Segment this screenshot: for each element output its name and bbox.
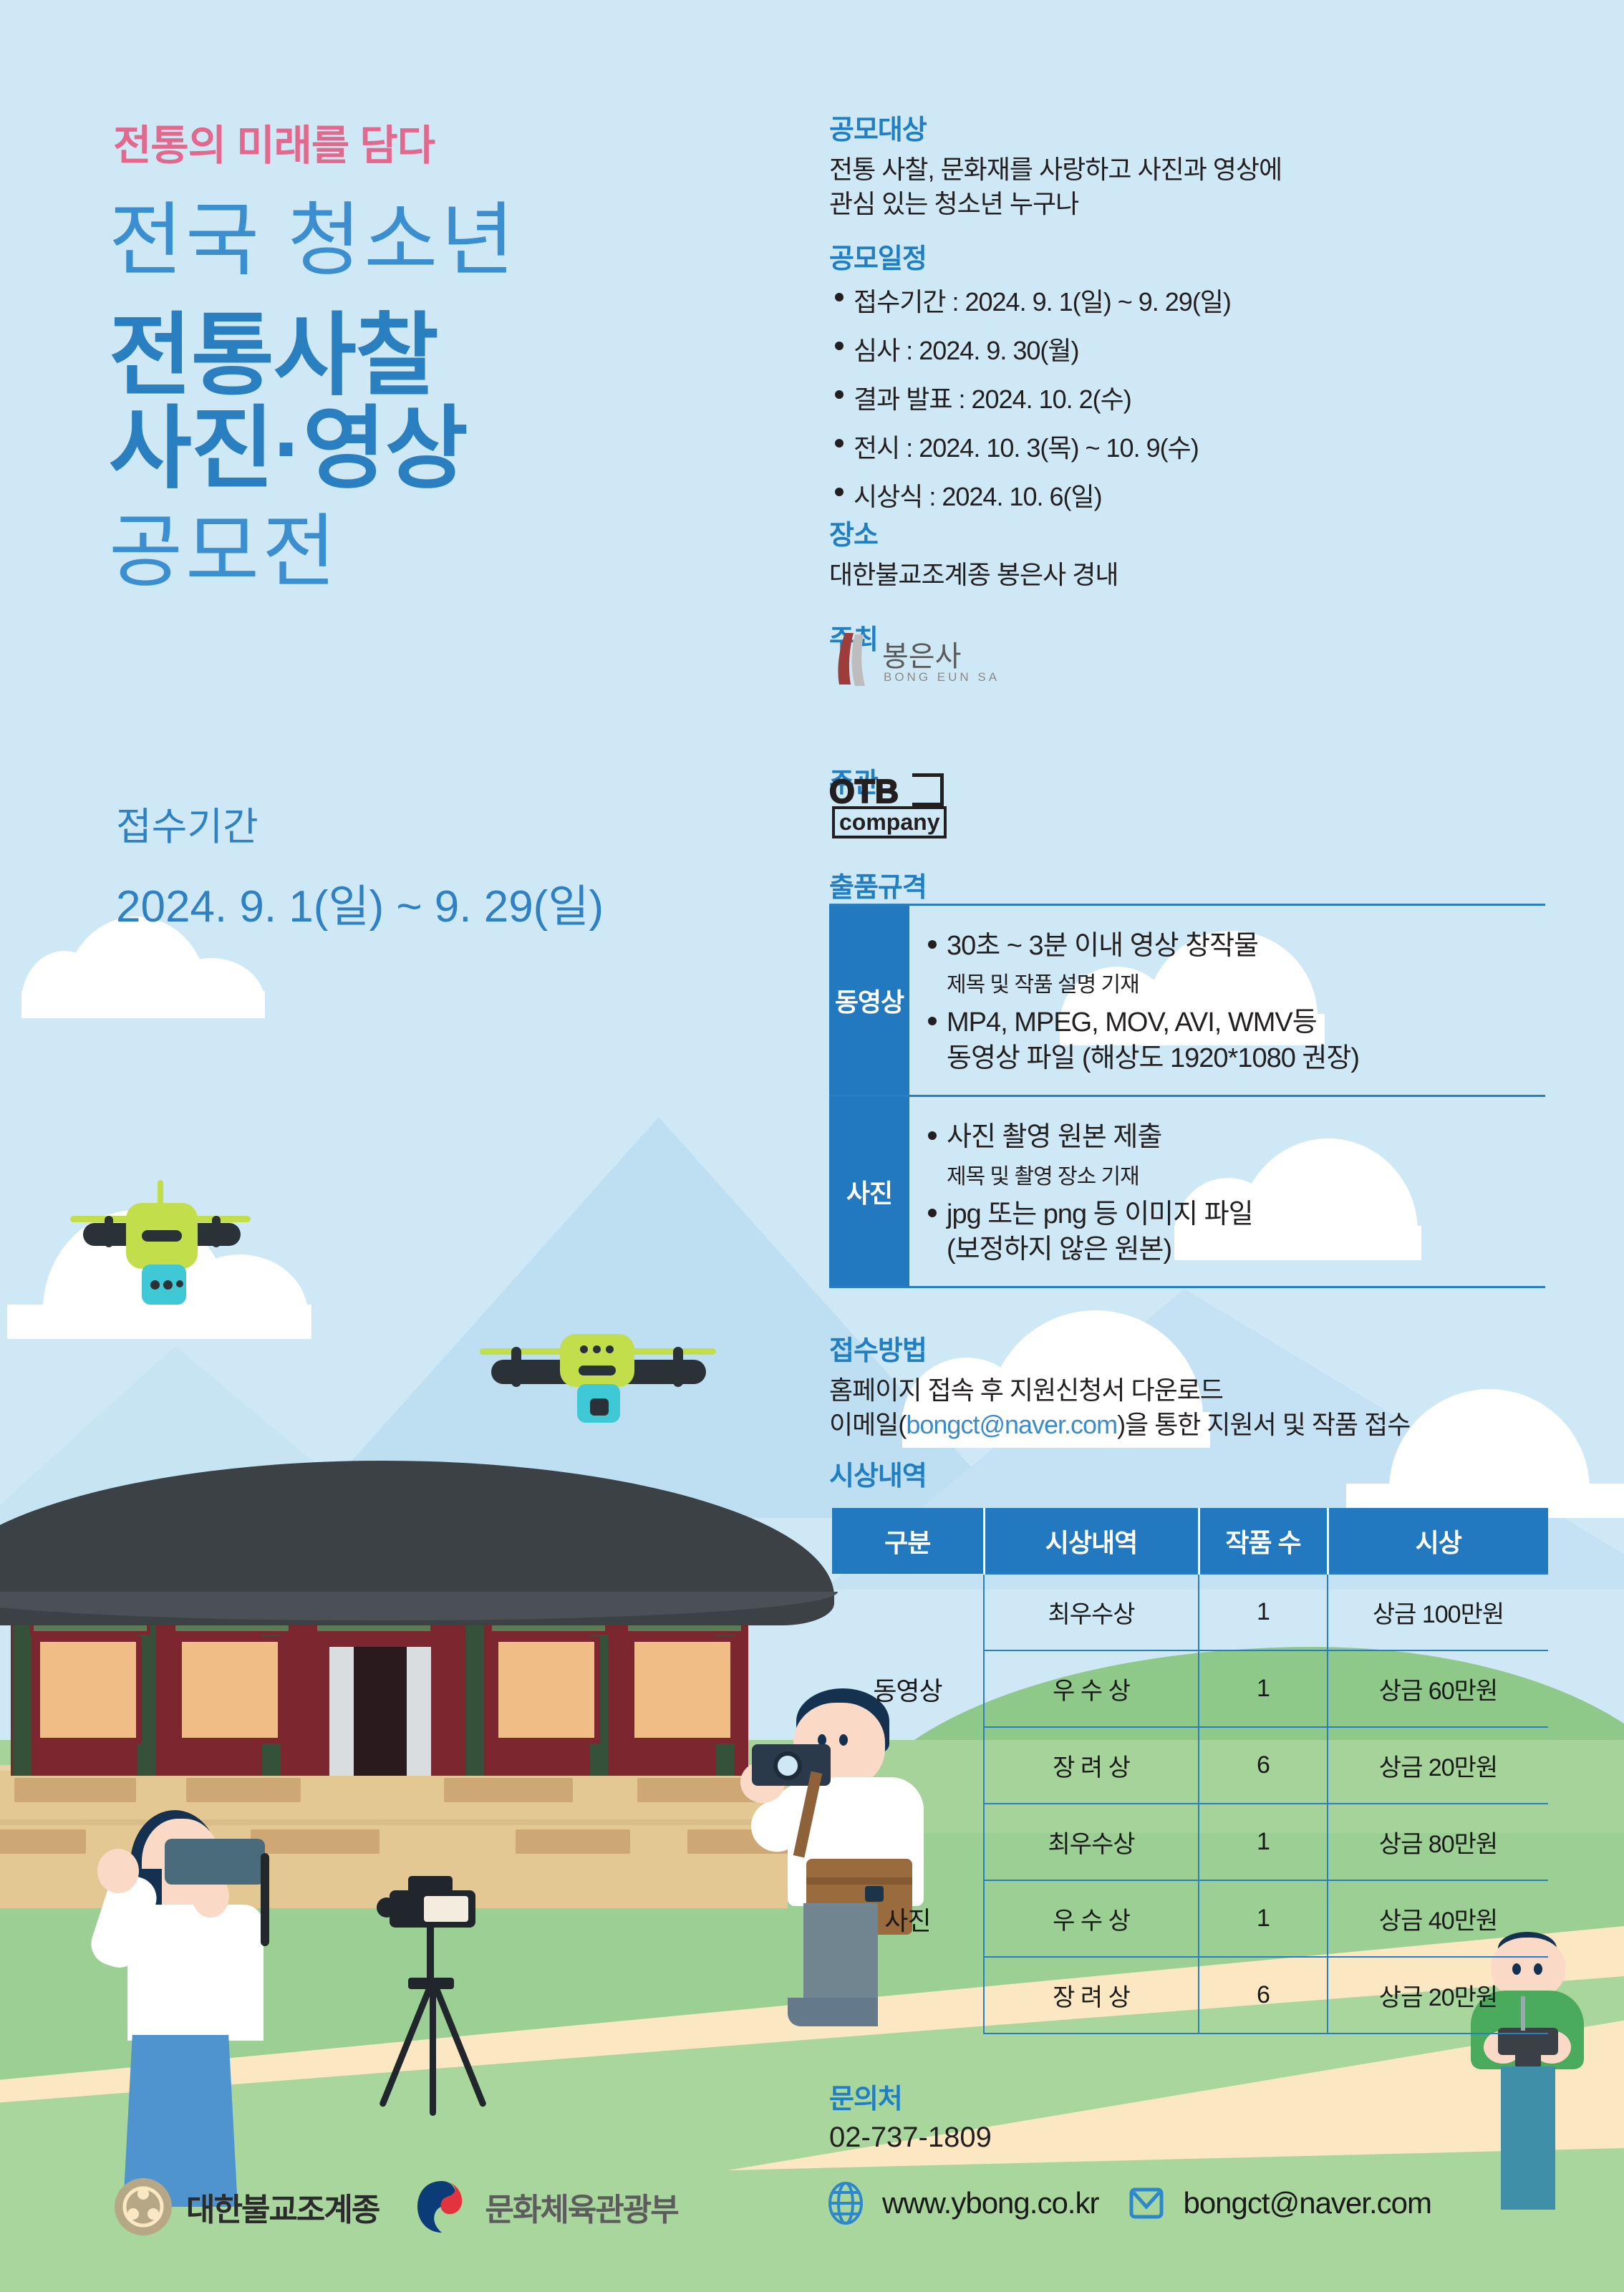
awards-count-cell: 6 — [1199, 1957, 1328, 2034]
smartphone-icon — [165, 1839, 265, 1885]
title-line-4: 공모전 — [109, 487, 339, 603]
apply-line-2: 이메일(bongct@naver.com)을 통한 지원서 및 작품 접수 — [829, 1408, 1545, 1442]
bongeunsa-logo-en: BONG EUN SA — [884, 670, 1000, 685]
awards-heading: 시상내역 — [829, 1454, 1545, 1493]
apply-line2-pre: 이메일( — [829, 1410, 906, 1439]
awards-count-cell: 1 — [1199, 1880, 1328, 1957]
bullet-icon — [835, 390, 844, 399]
spec-row: 사진사진 촬영 원본 제출제목 및 촬영 장소 기재jpg 또는 png 등 이… — [829, 1095, 1545, 1288]
footer-website[interactable]: www.ybong.co.kr — [823, 2181, 1098, 2225]
awards-prize-cell: 장 려 상 — [984, 1957, 1199, 2034]
section-apply: 접수방법 홈페이지 접속 후 지원신청서 다운로드 이메일(bongct@nav… — [829, 1328, 1545, 1442]
target-line-2: 관심 있는 청소년 누구나 — [829, 187, 1545, 221]
otb-logo: OTB company — [829, 772, 965, 838]
tagline: 전통의 미래를 담다 — [113, 112, 435, 172]
person-videographer — [86, 1790, 387, 2234]
awards-column-header: 구분 — [832, 1508, 984, 1574]
footer-logo-jogye-text: 대한불교조계종 — [186, 2184, 379, 2230]
awards-prize-cell: 최우수상 — [984, 1574, 1199, 1650]
awards-amount-cell: 상금 40만원 — [1328, 1880, 1548, 1957]
spec-row: 동영상30초 ~ 3분 이내 영상 창작물제목 및 작품 설명 기재MP4, M… — [829, 904, 1545, 1095]
bongeunsa-logo-ko: 봉은사 — [882, 633, 961, 674]
bongeunsa-logo: 봉은사 BONG EUN SA — [829, 627, 1015, 693]
hero-period-label: 접수기간 — [116, 795, 258, 851]
footer-contact-bar: www.ybong.co.kr bongct@naver.com — [823, 2181, 1431, 2225]
spec-item-main: MP4, MPEG, MOV, AVI, WMV등동영상 파일 (해상도 192… — [947, 1005, 1359, 1076]
section-schedule: 공모일정 접수기간 : 2024. 9. 1(일) ~ 9. 29(일)심사 :… — [829, 236, 1545, 525]
spec-item-main: jpg 또는 png 등 이미지 파일(보정하지 않은 원본) — [947, 1197, 1253, 1268]
spec-item-sub: 제목 및 작품 설명 기재 — [947, 967, 1538, 998]
spec-row-content: 사진 촬영 원본 제출제목 및 촬영 장소 기재jpg 또는 png 등 이미지… — [909, 1097, 1545, 1286]
footer-website-text[interactable]: www.ybong.co.kr — [882, 2186, 1098, 2220]
awards-category-cell: 사진 — [832, 1804, 984, 2034]
bullet-icon — [928, 1131, 937, 1140]
table-row: 동영상최우수상1상금 100만원 — [832, 1574, 1548, 1650]
bullet-icon — [928, 1017, 937, 1025]
poster-root: 전통의 미래를 담다 전국 청소년 전통사찰 사진·영상 공모전 접수기간 20… — [0, 0, 1624, 2292]
spec-item: 사진 촬영 원본 제출제목 및 촬영 장소 기재 — [928, 1120, 1538, 1189]
apply-line2-post: )을 통한 지원서 및 작품 접수 — [1117, 1410, 1410, 1439]
awards-category-cell: 동영상 — [832, 1574, 984, 1804]
awards-column-header: 시상내역 — [984, 1508, 1199, 1574]
awards-amount-cell: 상금 20만원 — [1328, 1727, 1548, 1804]
spec-item-main: 30초 ~ 3분 이내 영상 창작물 — [947, 929, 1258, 964]
spec-row-label: 사진 — [829, 1097, 909, 1286]
awards-amount-cell: 상금 60만원 — [1328, 1650, 1548, 1727]
schedule-list: 접수기간 : 2024. 9. 1(일) ~ 9. 29(일)심사 : 2024… — [829, 281, 1545, 513]
schedule-item-text: 시상식 : 2024. 10. 6(일) — [854, 476, 1102, 513]
schedule-item: 접수기간 : 2024. 9. 1(일) ~ 9. 29(일) — [829, 281, 1545, 319]
schedule-item-text: 접수기간 : 2024. 9. 1(일) ~ 9. 29(일) — [854, 281, 1231, 319]
spec-row-label: 동영상 — [829, 906, 909, 1095]
spec-item: MP4, MPEG, MOV, AVI, WMV등동영상 파일 (해상도 192… — [928, 1005, 1538, 1076]
awards-count-cell: 1 — [1199, 1650, 1328, 1727]
awards-prize-cell: 우 수 상 — [984, 1880, 1199, 1957]
target-heading: 공모대상 — [829, 107, 1545, 147]
awards-amount-cell: 상금 20만원 — [1328, 1957, 1548, 2034]
spec-table: 동영상30초 ~ 3분 이내 영상 창작물제목 및 작품 설명 기재MP4, M… — [829, 904, 1545, 1288]
schedule-item: 심사 : 2024. 9. 30(월) — [829, 330, 1545, 367]
contact-phone: 02-737-1809 — [829, 2122, 992, 2154]
apply-line-1: 홈페이지 접속 후 지원신청서 다운로드 — [829, 1373, 1545, 1408]
bullet-icon — [835, 488, 844, 496]
section-awards: 시상내역 — [829, 1454, 1545, 1499]
otb-logo-line2: company — [832, 806, 947, 838]
awards-column-header: 작품 수 — [1199, 1508, 1328, 1574]
spec-heading: 출품규격 — [829, 865, 1545, 904]
table-row: 사진최우수상1상금 80만원 — [832, 1804, 1548, 1880]
apply-heading: 접수방법 — [829, 1328, 1545, 1368]
awards-body: 동영상최우수상1상금 100만원우 수 상1상금 60만원장 려 상6상금 20… — [832, 1574, 1548, 2034]
schedule-item: 시상식 : 2024. 10. 6(일) — [829, 476, 1545, 513]
venue-heading: 장소 — [829, 513, 1545, 552]
spec-row-content: 30초 ~ 3분 이내 영상 창작물제목 및 작품 설명 기재MP4, MPEG… — [909, 906, 1545, 1095]
awards-count-cell: 6 — [1199, 1727, 1328, 1804]
footer-logo-mcst-text: 문화체육관광부 — [485, 2184, 677, 2230]
awards-prize-cell: 우 수 상 — [984, 1650, 1199, 1727]
awards-amount-cell: 상금 80만원 — [1328, 1804, 1548, 1880]
footer-logo-mcst: 문화체육관광부 — [412, 2177, 677, 2237]
target-line-1: 전통 사찰, 문화재를 사랑하고 사진과 영상에 — [829, 153, 1545, 187]
jogye-wheel-icon — [113, 2177, 173, 2237]
spec-item-main: 사진 촬영 원본 제출 — [947, 1120, 1161, 1155]
spec-item-sub: 제목 및 촬영 장소 기재 — [947, 1159, 1538, 1190]
awards-prize-cell: 장 려 상 — [984, 1727, 1199, 1804]
gimbal-handle — [261, 1853, 269, 1946]
footer-email[interactable]: bongct@naver.com — [1124, 2181, 1431, 2225]
globe-icon — [823, 2181, 868, 2225]
footer-logo-jogye: 대한불교조계종 — [113, 2177, 379, 2237]
bullet-icon — [928, 1209, 937, 1217]
korea-taegeuk-icon — [412, 2177, 472, 2237]
schedule-item: 전시 : 2024. 10. 3(목) ~ 10. 9(수) — [829, 427, 1545, 465]
bullet-icon — [835, 342, 844, 350]
footer-logo-bar: 대한불교조계종 문화체육관광부 — [113, 2177, 678, 2237]
spec-item: jpg 또는 png 등 이미지 파일(보정하지 않은 원본) — [928, 1197, 1538, 1268]
bullet-icon — [835, 439, 844, 448]
schedule-item: 결과 발표 : 2024. 10. 2(수) — [829, 379, 1545, 416]
awards-prize-cell: 최우수상 — [984, 1804, 1199, 1880]
section-contact: 문의처 02-737-1809 — [829, 2076, 992, 2154]
awards-amount-cell: 상금 100만원 — [1328, 1574, 1548, 1650]
schedule-item-text: 심사 : 2024. 9. 30(월) — [854, 330, 1079, 367]
section-venue: 장소 대한불교조계종 봉은사 경내 — [829, 513, 1545, 592]
footer-email-text[interactable]: bongct@naver.com — [1183, 2186, 1431, 2220]
envelope-icon — [1124, 2181, 1169, 2225]
schedule-item-text: 전시 : 2024. 10. 3(목) ~ 10. 9(수) — [854, 427, 1199, 465]
awards-header-row: 구분시상내역작품 수시상 — [832, 1508, 1548, 1574]
schedule-item-text: 결과 발표 : 2024. 10. 2(수) — [854, 379, 1131, 416]
awards-column-header: 시상 — [1328, 1508, 1548, 1574]
section-target: 공모대상 전통 사찰, 문화재를 사랑하고 사진과 영상에 관심 있는 청소년 … — [829, 107, 1545, 221]
drone-upper-left — [70, 1174, 249, 1310]
awards-table: 구분시상내역작품 수시상 동영상최우수상1상금 100만원우 수 상1상금 60… — [832, 1508, 1548, 2034]
spec-item: 30초 ~ 3분 이내 영상 창작물제목 및 작품 설명 기재 — [928, 929, 1538, 998]
title-line-1: 전국 청소년 — [109, 175, 517, 291]
bullet-icon — [835, 293, 844, 301]
awards-count-cell: 1 — [1199, 1804, 1328, 1880]
hero-period-value: 2024. 9. 1(일) ~ 9. 29(일) — [116, 870, 604, 934]
bullet-icon — [928, 940, 937, 949]
venue-value: 대한불교조계종 봉은사 경내 — [829, 558, 1545, 592]
schedule-heading: 공모일정 — [829, 236, 1545, 276]
contact-heading: 문의처 — [829, 2076, 992, 2116]
otb-logo-line1: OTB — [829, 772, 899, 811]
camera-tripod — [364, 1876, 521, 2134]
apply-email-link[interactable]: bongct@naver.com — [906, 1410, 1117, 1439]
awards-count-cell: 1 — [1199, 1574, 1328, 1650]
operator-pants — [1501, 2066, 1555, 2210]
